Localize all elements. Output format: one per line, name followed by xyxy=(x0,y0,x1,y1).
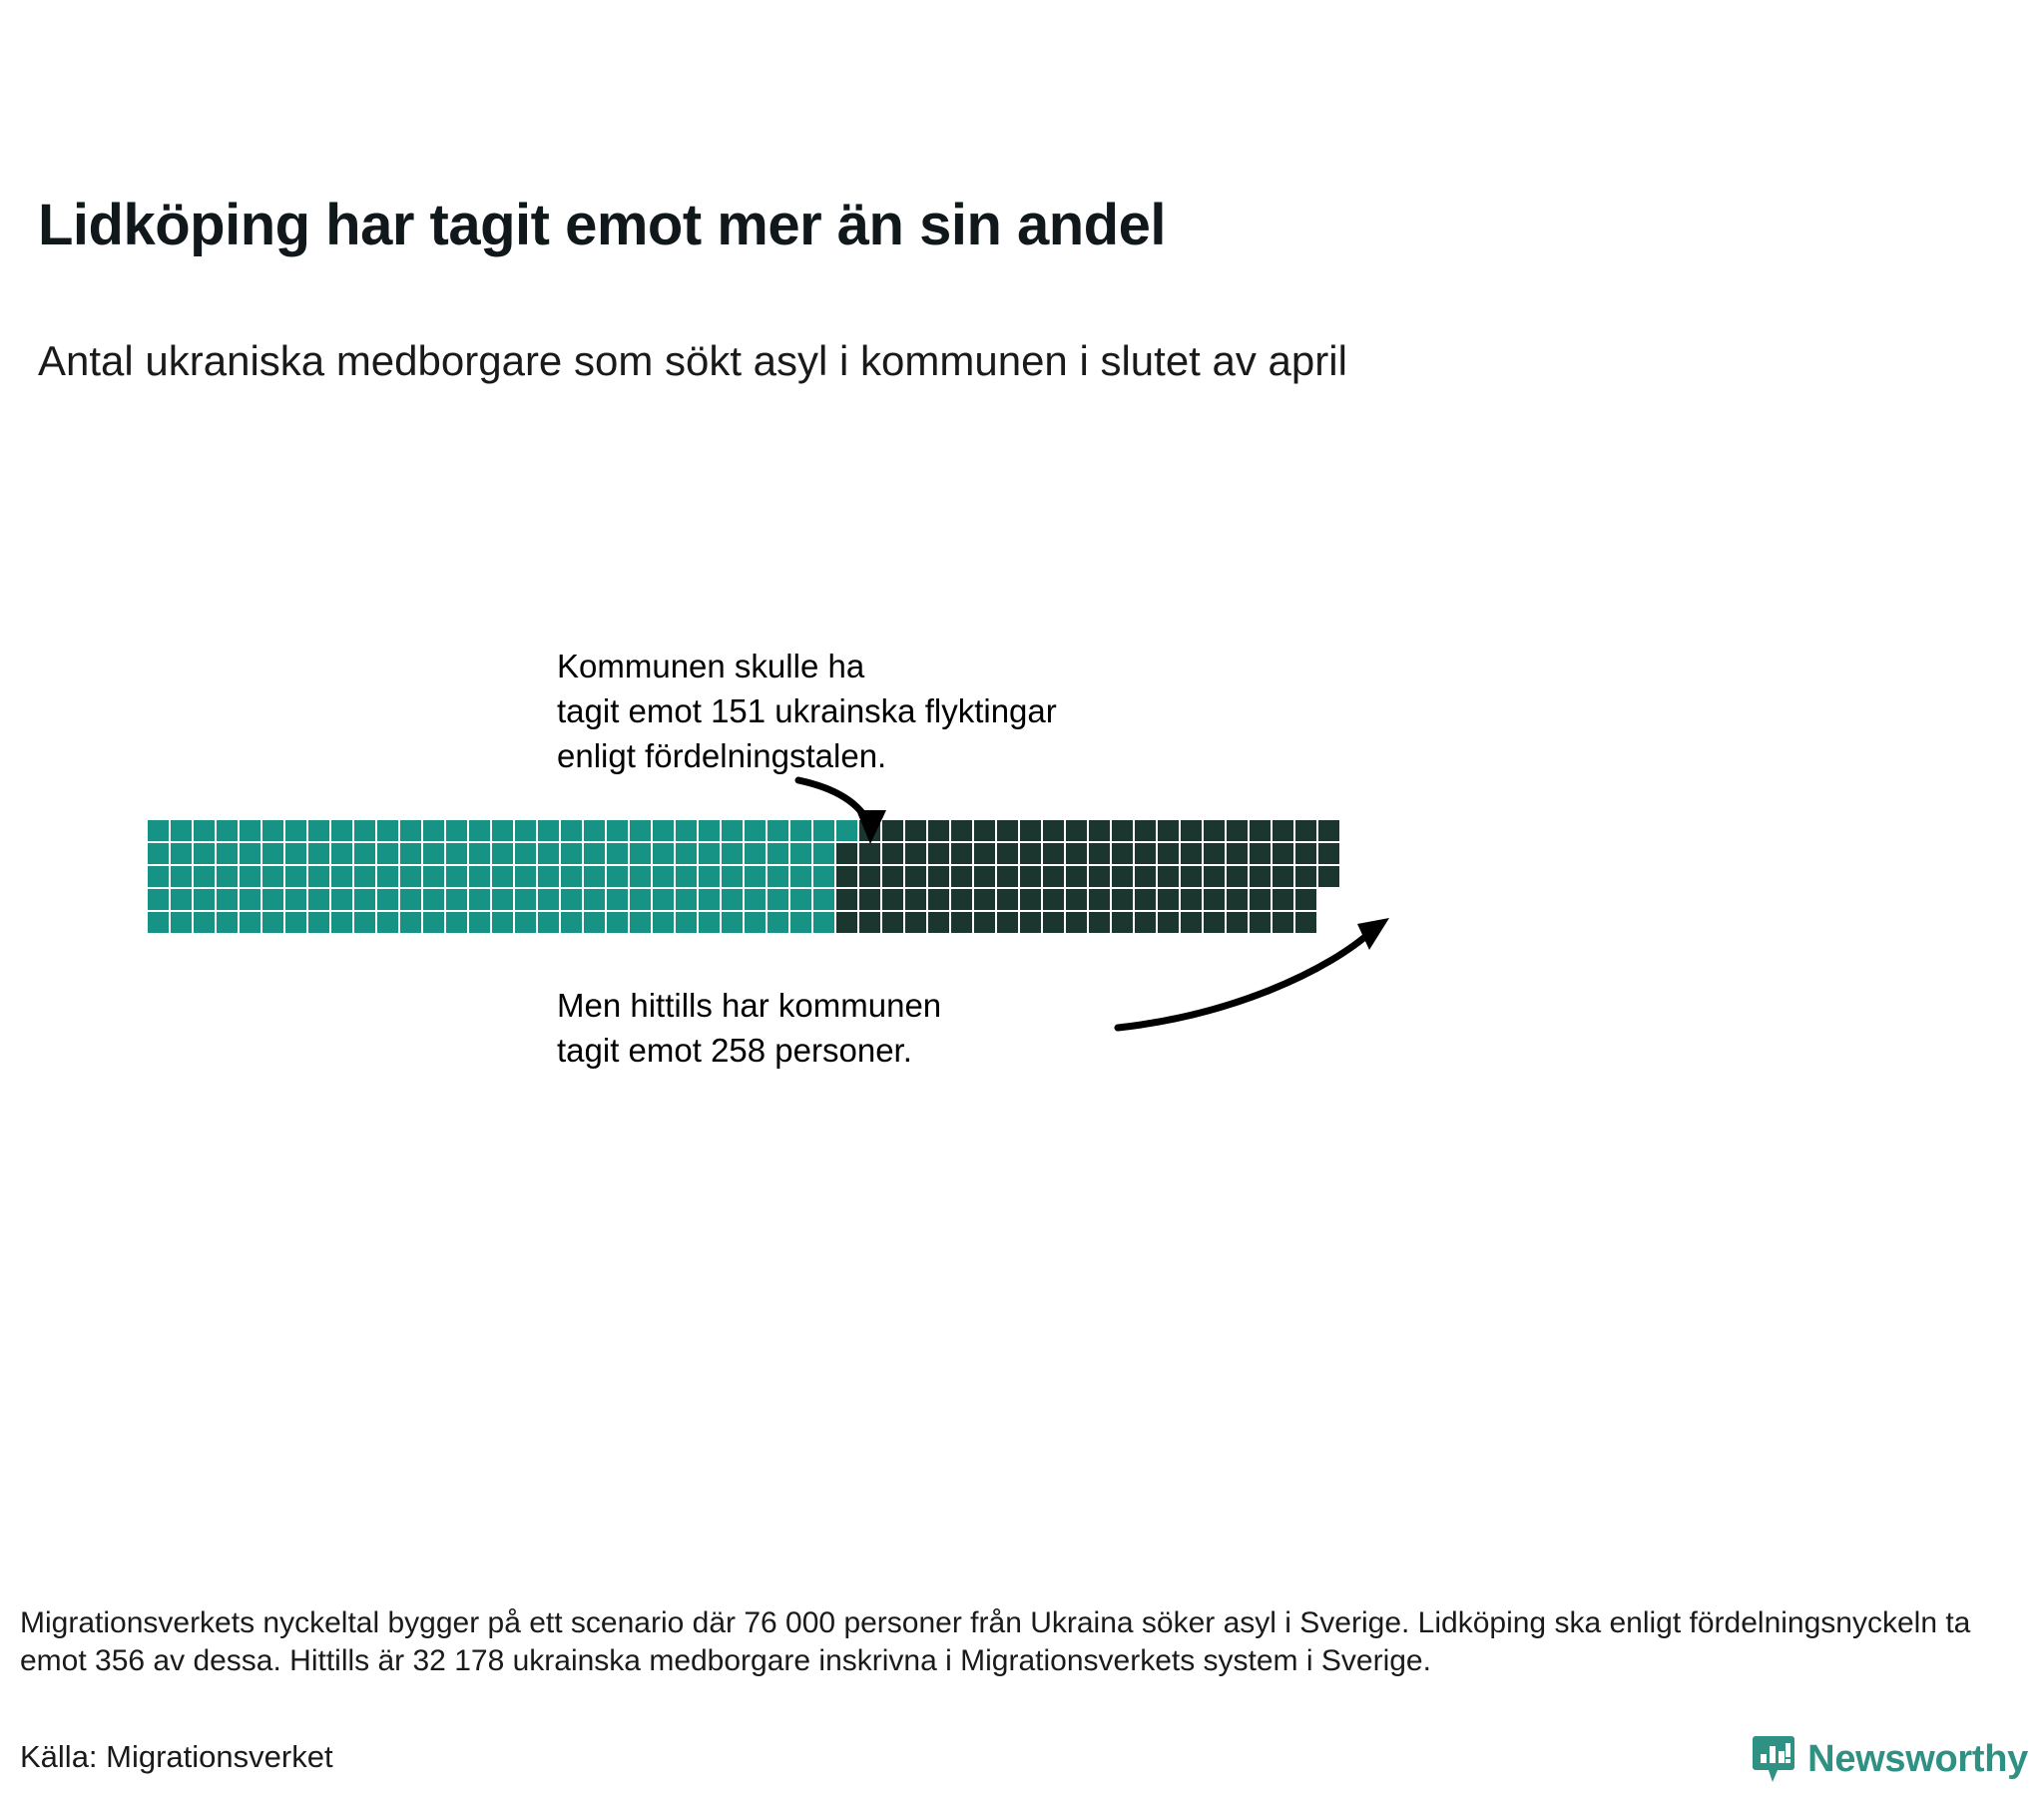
waffle-cell-allocated xyxy=(171,912,192,933)
waffle-cell-allocated xyxy=(262,843,283,864)
waffle-cell-extra xyxy=(1135,820,1156,841)
waffle-cell-extra xyxy=(882,889,903,910)
waffle-cell-allocated xyxy=(492,866,513,887)
waffle-cell-extra xyxy=(836,889,857,910)
waffle-cell-extra xyxy=(1181,820,1202,841)
waffle-cell-allocated xyxy=(446,843,467,864)
waffle-cell-allocated xyxy=(561,820,582,841)
waffle-cell-extra xyxy=(1204,912,1225,933)
source-label: Källa: Migrationsverket xyxy=(20,1739,333,1775)
arrow-head-actual xyxy=(1357,918,1389,950)
waffle-cell-extra xyxy=(997,912,1018,933)
waffle-cell-allocated xyxy=(262,866,283,887)
waffle-cell-allocated xyxy=(354,820,375,841)
waffle-cell-allocated xyxy=(790,843,811,864)
waffle-cell-extra xyxy=(1112,820,1133,841)
waffle-cell-allocated xyxy=(285,889,306,910)
waffle-cell-allocated xyxy=(538,866,559,887)
waffle-cell-allocated xyxy=(331,889,352,910)
waffle-cell-allocated xyxy=(331,912,352,933)
waffle-cell-allocated xyxy=(653,843,674,864)
waffle-cell-allocated xyxy=(538,912,559,933)
waffle-cell-allocated xyxy=(423,912,444,933)
waffle-cell-allocated xyxy=(584,820,605,841)
waffle-cell-extra xyxy=(1250,866,1271,887)
waffle-cell-allocated xyxy=(423,820,444,841)
waffle-cell-allocated xyxy=(607,843,628,864)
waffle-cell-allocated xyxy=(285,843,306,864)
waffle-cell-extra xyxy=(1227,820,1248,841)
waffle-cell-extra xyxy=(1227,866,1248,887)
waffle-cell-allocated xyxy=(538,843,559,864)
waffle-cell-extra xyxy=(1158,843,1179,864)
waffle-cell-allocated xyxy=(745,912,766,933)
waffle-cell-allocated xyxy=(354,866,375,887)
waffle-cell-extra xyxy=(1295,820,1316,841)
newsworthy-logo[interactable]: Newsworthy xyxy=(1752,1734,2028,1784)
waffle-cell-allocated xyxy=(653,889,674,910)
waffle-cell-allocated xyxy=(217,889,238,910)
waffle-cell-allocated xyxy=(469,820,490,841)
waffle-cell-extra xyxy=(1181,843,1202,864)
waffle-cell-extra xyxy=(997,889,1018,910)
waffle-cell-allocated xyxy=(561,912,582,933)
waffle-cell-extra xyxy=(1112,843,1133,864)
waffle-cell-extra xyxy=(1204,889,1225,910)
waffle-cell-allocated xyxy=(469,912,490,933)
waffle-cell-allocated xyxy=(515,889,536,910)
waffle-cell-extra xyxy=(928,820,949,841)
waffle-cell-allocated xyxy=(722,912,743,933)
waffle-cell-allocated xyxy=(240,820,260,841)
waffle-cell-allocated xyxy=(630,843,651,864)
waffle-cell-extra xyxy=(1273,866,1293,887)
waffle-cell-allocated xyxy=(722,866,743,887)
waffle-cell-extra xyxy=(1066,820,1087,841)
waffle-cell-extra xyxy=(1089,843,1110,864)
waffle-cell-extra xyxy=(1295,889,1316,910)
waffle-cell-allocated xyxy=(767,866,788,887)
waffle-cell-allocated xyxy=(676,866,697,887)
waffle-cell-extra xyxy=(1204,820,1225,841)
waffle-cell-extra xyxy=(951,889,972,910)
waffle-cell-allocated xyxy=(492,889,513,910)
waffle-cell-allocated xyxy=(653,912,674,933)
waffle-cell-allocated xyxy=(813,820,834,841)
waffle-cell-extra xyxy=(1043,820,1064,841)
waffle-cell-allocated xyxy=(561,889,582,910)
waffle-cell-extra xyxy=(1089,912,1110,933)
waffle-cell-extra xyxy=(1066,889,1087,910)
waffle-cell-allocated xyxy=(240,889,260,910)
waffle-cell-extra xyxy=(997,866,1018,887)
waffle-cell-extra xyxy=(928,912,949,933)
waffle-cell-extra xyxy=(1204,843,1225,864)
waffle-cell-allocated xyxy=(308,843,329,864)
waffle-cell-extra xyxy=(951,820,972,841)
waffle-cell-extra xyxy=(951,843,972,864)
waffle-cell-allocated xyxy=(423,843,444,864)
waffle-cell-allocated xyxy=(400,843,421,864)
waffle-cell-allocated xyxy=(538,889,559,910)
logo-wordmark: Newsworthy xyxy=(1807,1738,2028,1781)
waffle-cell-allocated xyxy=(630,912,651,933)
waffle-cell-extra xyxy=(997,820,1018,841)
waffle-cell-extra xyxy=(836,843,857,864)
waffle-cell-allocated xyxy=(790,889,811,910)
waffle-cell-allocated xyxy=(171,820,192,841)
waffle-cell-allocated xyxy=(469,866,490,887)
waffle-cell-allocated xyxy=(515,866,536,887)
waffle-cell-extra xyxy=(1043,866,1064,887)
waffle-cell-allocated xyxy=(767,820,788,841)
waffle-cell-allocated xyxy=(699,889,720,910)
waffle-cell-extra xyxy=(974,820,995,841)
waffle-cell-extra xyxy=(1273,889,1293,910)
waffle-cell-extra xyxy=(1020,820,1041,841)
waffle-cell-extra xyxy=(1295,866,1316,887)
waffle-cell-extra xyxy=(928,889,949,910)
waffle-cell-allocated xyxy=(171,866,192,887)
waffle-cell-allocated xyxy=(331,820,352,841)
waffle-cell-allocated xyxy=(217,912,238,933)
waffle-cell-extra xyxy=(951,866,972,887)
waffle-cell-extra xyxy=(1158,912,1179,933)
bar-chart-speech-bubble-icon xyxy=(1752,1734,1795,1784)
waffle-cell-allocated xyxy=(630,889,651,910)
waffle-cell-extra xyxy=(905,889,926,910)
waffle-cell-allocated xyxy=(400,912,421,933)
waffle-cell-extra xyxy=(836,912,857,933)
waffle-cell-extra xyxy=(1066,843,1087,864)
waffle-cell-allocated xyxy=(446,820,467,841)
waffle-cell-extra xyxy=(1020,866,1041,887)
waffle-cell-allocated xyxy=(492,820,513,841)
waffle-cell-extra xyxy=(1135,866,1156,887)
waffle-cell-extra xyxy=(882,866,903,887)
waffle-cell-extra xyxy=(974,912,995,933)
waffle-cell-allocated xyxy=(584,843,605,864)
page-subtitle: Antal ukraniska medborgare som sökt asyl… xyxy=(38,337,1347,385)
waffle-cell-allocated xyxy=(699,843,720,864)
waffle-cell-allocated xyxy=(423,866,444,887)
waffle-chart xyxy=(148,820,1339,933)
waffle-cell-allocated xyxy=(377,843,398,864)
waffle-cell-extra xyxy=(1181,912,1202,933)
footnote: Migrationsverkets nyckeltal bygger på et… xyxy=(20,1604,1996,1680)
waffle-cell-allocated xyxy=(217,843,238,864)
waffle-cell-extra xyxy=(859,843,880,864)
waffle-cell-allocated xyxy=(148,866,169,887)
waffle-cell-extra xyxy=(1181,866,1202,887)
waffle-cell-allocated xyxy=(745,866,766,887)
waffle-cell-allocated xyxy=(584,912,605,933)
waffle-cell-allocated xyxy=(308,912,329,933)
waffle-cell-extra xyxy=(905,912,926,933)
waffle-cell-allocated xyxy=(653,866,674,887)
waffle-cell-extra xyxy=(1158,866,1179,887)
waffle-cell-allocated xyxy=(377,866,398,887)
waffle-cell-extra xyxy=(1181,889,1202,910)
waffle-row xyxy=(148,912,1339,933)
waffle-cell-extra xyxy=(1318,820,1339,841)
waffle-cell-extra xyxy=(882,843,903,864)
waffle-cell-allocated xyxy=(538,820,559,841)
waffle-cell-extra xyxy=(1112,866,1133,887)
waffle-cell-allocated xyxy=(790,866,811,887)
waffle-cell-extra xyxy=(1273,820,1293,841)
waffle-cell-allocated xyxy=(308,866,329,887)
waffle-cell-extra xyxy=(1250,889,1271,910)
waffle-cell-extra xyxy=(1295,843,1316,864)
waffle-cell-allocated xyxy=(194,866,215,887)
waffle-cell-extra xyxy=(1250,912,1271,933)
waffle-cell-allocated xyxy=(767,912,788,933)
waffle-cell-extra xyxy=(905,866,926,887)
waffle-cell-allocated xyxy=(148,843,169,864)
waffle-cell-allocated xyxy=(722,843,743,864)
waffle-cell-extra xyxy=(1135,912,1156,933)
waffle-cell-allocated xyxy=(308,820,329,841)
waffle-cell-allocated xyxy=(377,889,398,910)
annotation-allocated: Kommunen skulle ha tagit emot 151 ukrain… xyxy=(557,644,1057,778)
waffle-cell-allocated xyxy=(148,912,169,933)
waffle-cell-allocated xyxy=(400,889,421,910)
waffle-cell-extra xyxy=(905,843,926,864)
waffle-cell-extra xyxy=(1158,889,1179,910)
waffle-cell-extra xyxy=(974,866,995,887)
waffle-cell-allocated xyxy=(584,889,605,910)
waffle-cell-allocated xyxy=(194,820,215,841)
waffle-cell-allocated xyxy=(745,843,766,864)
waffle-row xyxy=(148,820,1339,841)
waffle-cell-extra xyxy=(1089,866,1110,887)
waffle-cell-allocated xyxy=(400,820,421,841)
waffle-row xyxy=(148,843,1339,864)
waffle-cell-allocated xyxy=(446,912,467,933)
waffle-cell-allocated xyxy=(813,843,834,864)
waffle-cell-allocated xyxy=(217,866,238,887)
waffle-cell-extra xyxy=(859,820,880,841)
waffle-cell-extra xyxy=(1066,912,1087,933)
waffle-cell-extra xyxy=(836,866,857,887)
waffle-cell-allocated xyxy=(240,866,260,887)
waffle-cell-allocated xyxy=(676,889,697,910)
waffle-cell-allocated xyxy=(331,866,352,887)
waffle-row xyxy=(148,866,1339,887)
page-title: Lidköping har tagit emot mer än sin ande… xyxy=(38,192,1166,258)
waffle-cell-extra xyxy=(1250,820,1271,841)
waffle-cell-extra xyxy=(1295,912,1316,933)
waffle-cell-extra xyxy=(951,912,972,933)
waffle-cell-extra xyxy=(1318,843,1339,864)
waffle-cell-extra xyxy=(1158,820,1179,841)
waffle-cell-extra xyxy=(1020,912,1041,933)
waffle-cell-allocated xyxy=(699,820,720,841)
annotation-actual: Men hittills har kommunen tagit emot 258… xyxy=(557,983,941,1073)
waffle-cell-allocated xyxy=(699,912,720,933)
waffle-cell-allocated xyxy=(653,820,674,841)
waffle-cell-extra xyxy=(1227,843,1248,864)
waffle-cell-allocated xyxy=(377,820,398,841)
waffle-cell-allocated xyxy=(331,843,352,864)
waffle-cell-allocated xyxy=(171,889,192,910)
waffle-cell-allocated xyxy=(790,912,811,933)
waffle-cell-allocated xyxy=(217,820,238,841)
waffle-cell-extra xyxy=(974,843,995,864)
waffle-cell-extra xyxy=(905,820,926,841)
waffle-cell-extra xyxy=(1204,866,1225,887)
waffle-cell-allocated xyxy=(813,866,834,887)
waffle-cell-extra xyxy=(1227,912,1248,933)
waffle-cell-allocated xyxy=(171,843,192,864)
waffle-cell-extra xyxy=(928,843,949,864)
waffle-cell-extra xyxy=(859,866,880,887)
waffle-cell-allocated xyxy=(607,866,628,887)
waffle-cell-extra xyxy=(1273,843,1293,864)
waffle-cell-allocated xyxy=(813,912,834,933)
waffle-cell-allocated xyxy=(354,889,375,910)
waffle-cell-allocated xyxy=(285,912,306,933)
waffle-cell-extra xyxy=(1227,889,1248,910)
waffle-cell-allocated xyxy=(767,889,788,910)
waffle-cell-extra xyxy=(1066,866,1087,887)
waffle-cell-allocated xyxy=(630,820,651,841)
waffle-cell-extra xyxy=(1043,912,1064,933)
waffle-cell-extra xyxy=(1273,912,1293,933)
waffle-cell-allocated xyxy=(194,889,215,910)
waffle-cell-allocated xyxy=(354,843,375,864)
waffle-cell-allocated xyxy=(285,820,306,841)
waffle-cell-allocated xyxy=(515,820,536,841)
waffle-cell-allocated xyxy=(262,912,283,933)
waffle-cell-allocated xyxy=(240,843,260,864)
waffle-cell-allocated xyxy=(515,912,536,933)
waffle-cell-extra xyxy=(1112,912,1133,933)
waffle-cell-allocated xyxy=(790,820,811,841)
waffle-cell-allocated xyxy=(813,889,834,910)
waffle-cell-allocated xyxy=(446,889,467,910)
waffle-cell-extra xyxy=(1318,866,1339,887)
arrow-to-actual-end xyxy=(1118,928,1375,1028)
waffle-cell-allocated xyxy=(469,889,490,910)
waffle-cell-extra xyxy=(1020,889,1041,910)
waffle-cell-extra xyxy=(1089,889,1110,910)
waffle-cell-extra xyxy=(1043,889,1064,910)
waffle-cell-extra xyxy=(1112,889,1133,910)
waffle-cell-allocated xyxy=(148,889,169,910)
waffle-cell-allocated xyxy=(676,912,697,933)
waffle-cell-allocated xyxy=(630,866,651,887)
waffle-cell-extra xyxy=(1043,843,1064,864)
waffle-cell-allocated xyxy=(492,912,513,933)
waffle-cell-extra xyxy=(1089,820,1110,841)
waffle-cell-allocated xyxy=(676,843,697,864)
waffle-cell-allocated xyxy=(308,889,329,910)
waffle-cell-allocated xyxy=(262,820,283,841)
waffle-cell-allocated xyxy=(836,820,857,841)
waffle-cell-allocated xyxy=(745,820,766,841)
waffle-cell-allocated xyxy=(423,889,444,910)
waffle-cell-allocated xyxy=(285,866,306,887)
waffle-cell-allocated xyxy=(194,843,215,864)
waffle-cell-allocated xyxy=(676,820,697,841)
waffle-cell-extra xyxy=(882,820,903,841)
waffle-cell-extra xyxy=(882,912,903,933)
waffle-cell-extra xyxy=(859,912,880,933)
waffle-cell-allocated xyxy=(722,889,743,910)
waffle-row xyxy=(148,889,1339,910)
waffle-cell-allocated xyxy=(722,820,743,841)
waffle-cell-allocated xyxy=(240,912,260,933)
waffle-cell-extra xyxy=(1135,889,1156,910)
waffle-cell-extra xyxy=(859,889,880,910)
waffle-cell-extra xyxy=(928,866,949,887)
waffle-cell-allocated xyxy=(354,912,375,933)
waffle-cell-allocated xyxy=(148,820,169,841)
waffle-cell-allocated xyxy=(561,866,582,887)
waffle-cell-allocated xyxy=(607,912,628,933)
waffle-cell-allocated xyxy=(262,889,283,910)
waffle-cell-extra xyxy=(1135,843,1156,864)
waffle-cell-allocated xyxy=(400,866,421,887)
infographic-page: Lidköping har tagit emot mer än sin ande… xyxy=(0,0,2044,1796)
waffle-cell-allocated xyxy=(194,912,215,933)
waffle-cell-extra xyxy=(1250,843,1271,864)
waffle-cell-allocated xyxy=(607,820,628,841)
waffle-cell-allocated xyxy=(584,866,605,887)
waffle-cell-allocated xyxy=(607,889,628,910)
waffle-cell-allocated xyxy=(745,889,766,910)
waffle-cell-allocated xyxy=(377,912,398,933)
waffle-cell-allocated xyxy=(561,843,582,864)
waffle-cell-extra xyxy=(1020,843,1041,864)
waffle-cell-extra xyxy=(974,889,995,910)
waffle-cell-allocated xyxy=(492,843,513,864)
waffle-cell-allocated xyxy=(515,843,536,864)
waffle-cell-allocated xyxy=(469,843,490,864)
waffle-cell-allocated xyxy=(446,866,467,887)
waffle-cell-allocated xyxy=(767,843,788,864)
waffle-cell-allocated xyxy=(699,866,720,887)
waffle-cell-extra xyxy=(997,843,1018,864)
